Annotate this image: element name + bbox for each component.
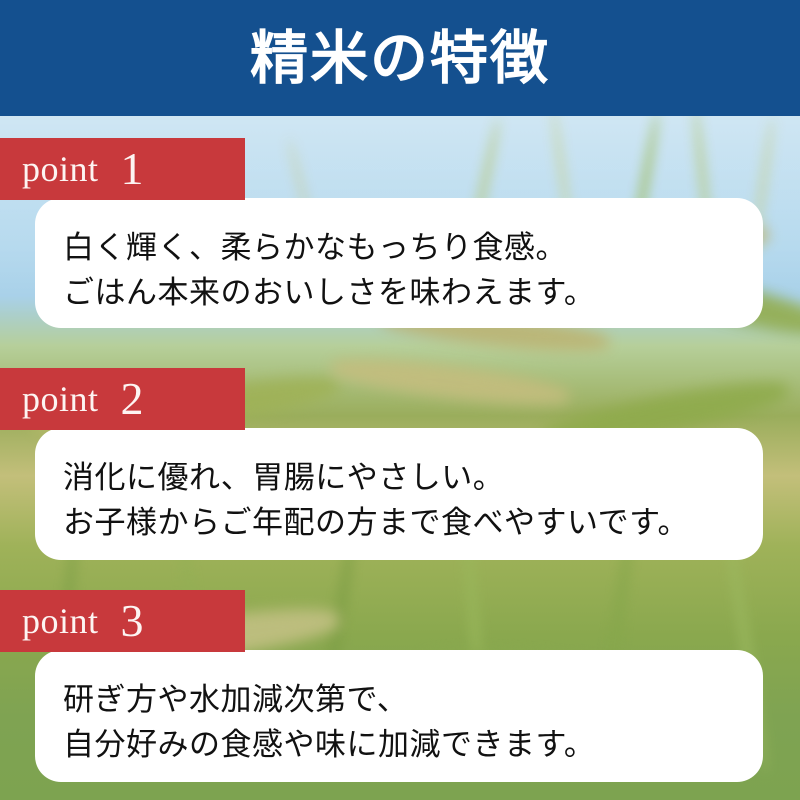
point-ribbon-label-2: point — [0, 381, 99, 417]
point-ribbon-2: point 2 — [0, 368, 245, 430]
point-card-1: 白く輝く、柔らかなもっちり食感。 ごはん本来のおいしさを味わえます。 — [35, 198, 763, 328]
point-card-line-3-2: 自分好みの食感や味に加減できます。 — [63, 723, 763, 768]
point-card-line-2-1: 消化に優れ、胃腸にやさしい。 — [63, 456, 763, 501]
point-block-1: point 1 白く輝く、柔らかなもっちり食感。 ごはん本来のおいしさを味わえま… — [0, 138, 800, 200]
point-ribbon-label-3: point — [0, 603, 99, 639]
point-card-2: 消化に優れ、胃腸にやさしい。 お子様からご年配の方まで食べやすいです。 — [35, 428, 763, 560]
point-ribbon-number-2: 2 — [99, 376, 144, 422]
point-card-3: 研ぎ方や水加減次第で、 自分好みの食感や味に加減できます。 — [35, 650, 763, 782]
point-card-line-2-2: お子様からご年配の方まで食べやすいです。 — [63, 501, 763, 546]
point-ribbon-number-3: 3 — [99, 598, 144, 644]
point-card-line-1-2: ごはん本来のおいしさを味わえます。 — [63, 271, 763, 316]
point-block-2: point 2 消化に優れ、胃腸にやさしい。 お子様からご年配の方まで食べやすい… — [0, 368, 800, 430]
point-ribbon-1: point 1 — [0, 138, 245, 200]
point-block-3: point 3 研ぎ方や水加減次第で、 自分好みの食感や味に加減できます。 — [0, 590, 800, 652]
page-title: 精米の特徴 — [250, 29, 550, 87]
point-ribbon-3: point 3 — [0, 590, 245, 652]
point-card-line-1-1: 白く輝く、柔らかなもっちり食感。 — [63, 226, 763, 271]
poster-root: 精米の特徴 point 1 白く輝く、柔らかなもっちり食感。 ごはん本来のおいし… — [0, 0, 800, 800]
point-card-line-3-1: 研ぎ方や水加減次第で、 — [63, 678, 763, 723]
header-banner: 精米の特徴 — [0, 0, 800, 116]
point-ribbon-number-1: 1 — [99, 146, 144, 192]
point-ribbon-label-1: point — [0, 151, 99, 187]
